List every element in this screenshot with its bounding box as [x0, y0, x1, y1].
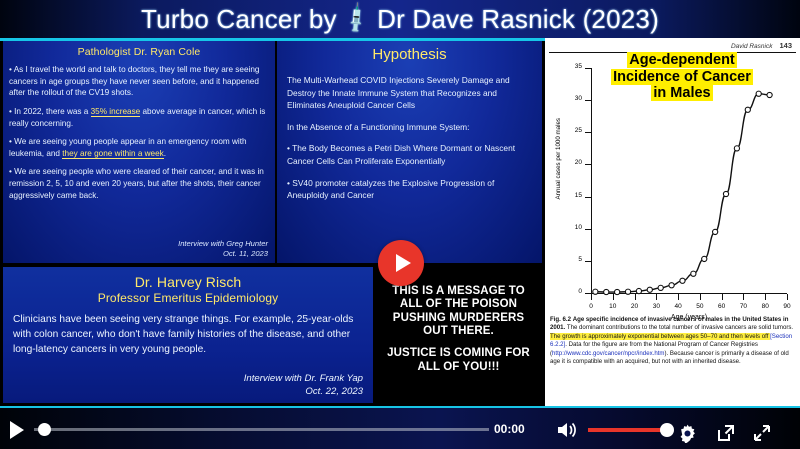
- panel-body-cole: • As I travel the world and talk to doct…: [3, 58, 275, 201]
- chart-data-point: [647, 287, 652, 292]
- caption-body-1: The dominant contributions to the total …: [567, 324, 793, 331]
- chart-y-axis-title: Annual cases per 1000 males: [555, 118, 562, 200]
- chart-data-point: [723, 191, 728, 196]
- caption-url-link[interactable]: http://www.cdc.gov/cancer/npcr/index.htm: [552, 350, 664, 357]
- player-controls[interactable]: 00:00: [0, 406, 800, 449]
- chart-data-point: [734, 146, 739, 151]
- page-title: Turbo Cancer by 💉 Dr Dave Rasnick (2023): [141, 4, 659, 35]
- fullscreen-button[interactable]: [753, 424, 771, 442]
- panel-message: THIS IS A MESSAGE TO ALL OF THE POISON P…: [375, 267, 542, 403]
- video-player[interactable]: Turbo Cancer by 💉 Dr Dave Rasnick (2023)…: [0, 0, 800, 449]
- chart-y-tick: 25: [585, 132, 591, 133]
- figure-panel: David Rasnick143 Annual cases per 1000 m…: [545, 38, 800, 406]
- chart-data-point: [680, 278, 685, 283]
- figure-running-head: David Rasnick143: [731, 41, 792, 50]
- volume-handle[interactable]: [660, 423, 674, 437]
- chart-fit-line: [595, 94, 769, 292]
- play-button[interactable]: [0, 408, 34, 449]
- play-overlay-button[interactable]: [378, 240, 424, 286]
- figure-caption: Fig. 6.2 Age specific incidence of invas…: [550, 316, 795, 366]
- chart-x-axis: [591, 293, 787, 294]
- panel-subtitle-risch: Professor Emeritus Epidemiology: [3, 290, 373, 305]
- time-display: 00:00: [494, 422, 525, 436]
- caption-body-highlight: The growth is approximately exponential …: [550, 333, 770, 340]
- chart-y-tick-label: 5: [578, 256, 582, 263]
- chart-x-tick-label: 80: [762, 303, 769, 310]
- link-35-increase[interactable]: 35% increase: [91, 107, 141, 117]
- figure-page-number: 143: [779, 41, 792, 50]
- cole-bullet-4: • We are seeing people who were cleared …: [9, 166, 268, 201]
- hypothesis-bullet-2: • SV40 promoter catalyzes the Explosive …: [287, 177, 532, 202]
- figure-author: David Rasnick: [731, 43, 773, 50]
- hypothesis-para-1: The Multi-Warhead COVID Injections Sever…: [287, 74, 532, 112]
- chart-y-tick-label: 15: [575, 192, 582, 199]
- panel-hypothesis: Hypothesis The Multi-Warhead COVID Injec…: [277, 41, 542, 263]
- chart-data-point: [669, 283, 674, 288]
- chart-data-point: [658, 285, 663, 290]
- cole-attrib-line2: Oct. 11, 2023: [178, 249, 268, 259]
- settings-button[interactable]: [678, 424, 697, 443]
- cole-bullet-1: • As I travel the world and talk to doct…: [9, 64, 268, 99]
- chart-callout-text: Age-dependent Incidence of Cancer in Mal…: [611, 52, 753, 101]
- chart-x-tick: [613, 294, 614, 300]
- cole-attribution: Interview with Greg Hunter Oct. 11, 2023: [178, 239, 268, 260]
- chart-y-tick: 20: [585, 164, 591, 165]
- slide-body: Pathologist Dr. Ryan Cole • As I travel …: [0, 38, 800, 406]
- risch-attrib-line1: Interview with Dr. Frank Yap: [244, 373, 363, 385]
- message-line-2: JUSTICE IS COMING FOR ALL OF YOU!!!: [381, 347, 536, 374]
- chart-data-point: [713, 229, 718, 234]
- chart-x-tick: [591, 294, 592, 300]
- chart-data-point: [702, 256, 707, 261]
- panel-title-cole: Pathologist Dr. Ryan Cole: [3, 41, 275, 58]
- chart-x-tick: [765, 294, 766, 300]
- chart-x-tick-label: 10: [609, 303, 616, 310]
- chart-data-point: [691, 271, 696, 276]
- chart-x-tick-label: 90: [783, 303, 790, 310]
- syringe-icon: 💉: [339, 1, 375, 36]
- risch-attribution: Interview with Dr. Frank Yap Oct. 22, 20…: [244, 373, 363, 398]
- cole-bullet-2: • In 2022, there was a 35% increase abov…: [9, 106, 268, 129]
- chart-x-tick-label: 30: [653, 303, 660, 310]
- chart-y-tick-label: 20: [575, 159, 582, 166]
- play-icon-small: [10, 421, 24, 439]
- chart-x-tick: [678, 294, 679, 300]
- chart-y-tick-label: 35: [575, 63, 582, 70]
- seek-bar[interactable]: [34, 428, 489, 431]
- chart-x-tick: [700, 294, 701, 300]
- chart-x-tick-label: 0: [589, 303, 593, 310]
- panel-body-hypothesis: The Multi-Warhead COVID Injections Sever…: [277, 63, 542, 202]
- hypothesis-para-2: In the Absence of a Functioning Immune S…: [287, 121, 532, 134]
- chart-x-tick: [743, 294, 744, 300]
- cole-attrib-line1: Interview with Greg Hunter: [178, 239, 268, 249]
- chart-data-point: [767, 92, 772, 97]
- chart-y-tick-label: 30: [575, 95, 582, 102]
- chart-y-tick-label: 0: [578, 288, 582, 295]
- chart-y-tick-label: 25: [575, 127, 582, 134]
- chart-x-tick-label: 60: [718, 303, 725, 310]
- chart-y-tick-label: 10: [575, 224, 582, 231]
- chart-data-point: [745, 107, 750, 112]
- chart-x-tick-label: 40: [674, 303, 681, 310]
- panel-title-hypothesis: Hypothesis: [277, 41, 542, 63]
- title-text-after: Dr Dave Rasnick (2023): [377, 4, 659, 35]
- play-icon: [396, 254, 411, 272]
- message-line-1: THIS IS A MESSAGE TO ALL OF THE POISON P…: [381, 285, 536, 338]
- chart-x-tick-label: 70: [740, 303, 747, 310]
- chart-y-axis: [591, 68, 592, 293]
- chart-x-tick-label: 50: [696, 303, 703, 310]
- chart-x-tick-label: 20: [631, 303, 638, 310]
- panel-harvey-risch: Dr. Harvey Risch Professor Emeritus Epid…: [3, 267, 373, 403]
- chart-y-tick: 15: [585, 197, 591, 198]
- chart-x-tick: [656, 294, 657, 300]
- panel-ryan-cole: Pathologist Dr. Ryan Cole • As I travel …: [3, 41, 277, 263]
- panel-title-risch: Dr. Harvey Risch: [3, 267, 373, 290]
- seek-handle[interactable]: [38, 423, 51, 436]
- title-text-before: Turbo Cancer by: [141, 4, 337, 35]
- chart-x-tick: [722, 294, 723, 300]
- volume-icon[interactable]: [556, 421, 578, 439]
- slide-title-banner: Turbo Cancer by 💉 Dr Dave Rasnick (2023): [0, 0, 800, 38]
- chart-y-tick: 5: [585, 261, 591, 262]
- risch-attrib-line2: Oct. 22, 2023: [244, 386, 363, 398]
- chart-x-tick: [635, 294, 636, 300]
- chart-x-tick: [787, 294, 788, 300]
- chart-y-tick: 30: [585, 100, 591, 101]
- link-gone-within-a-week[interactable]: they are gone within a week: [62, 149, 164, 159]
- popout-button[interactable]: [717, 424, 735, 442]
- chart-y-tick: 10: [585, 229, 591, 230]
- hypothesis-bullet-1: • The Body Becomes a Petri Dish Where Do…: [287, 142, 532, 167]
- chart-y-tick: 35: [585, 68, 591, 69]
- risch-quote: Clinicians have been seeing very strange…: [3, 305, 373, 357]
- cole-bullet-3: • We are seeing young people appear in a…: [9, 136, 268, 159]
- volume-slider[interactable]: [588, 428, 668, 432]
- caption-figure-number: Fig. 6.2: [550, 316, 571, 323]
- chart-callout-label: Age-dependent Incidence of Cancer in Mal…: [607, 52, 757, 102]
